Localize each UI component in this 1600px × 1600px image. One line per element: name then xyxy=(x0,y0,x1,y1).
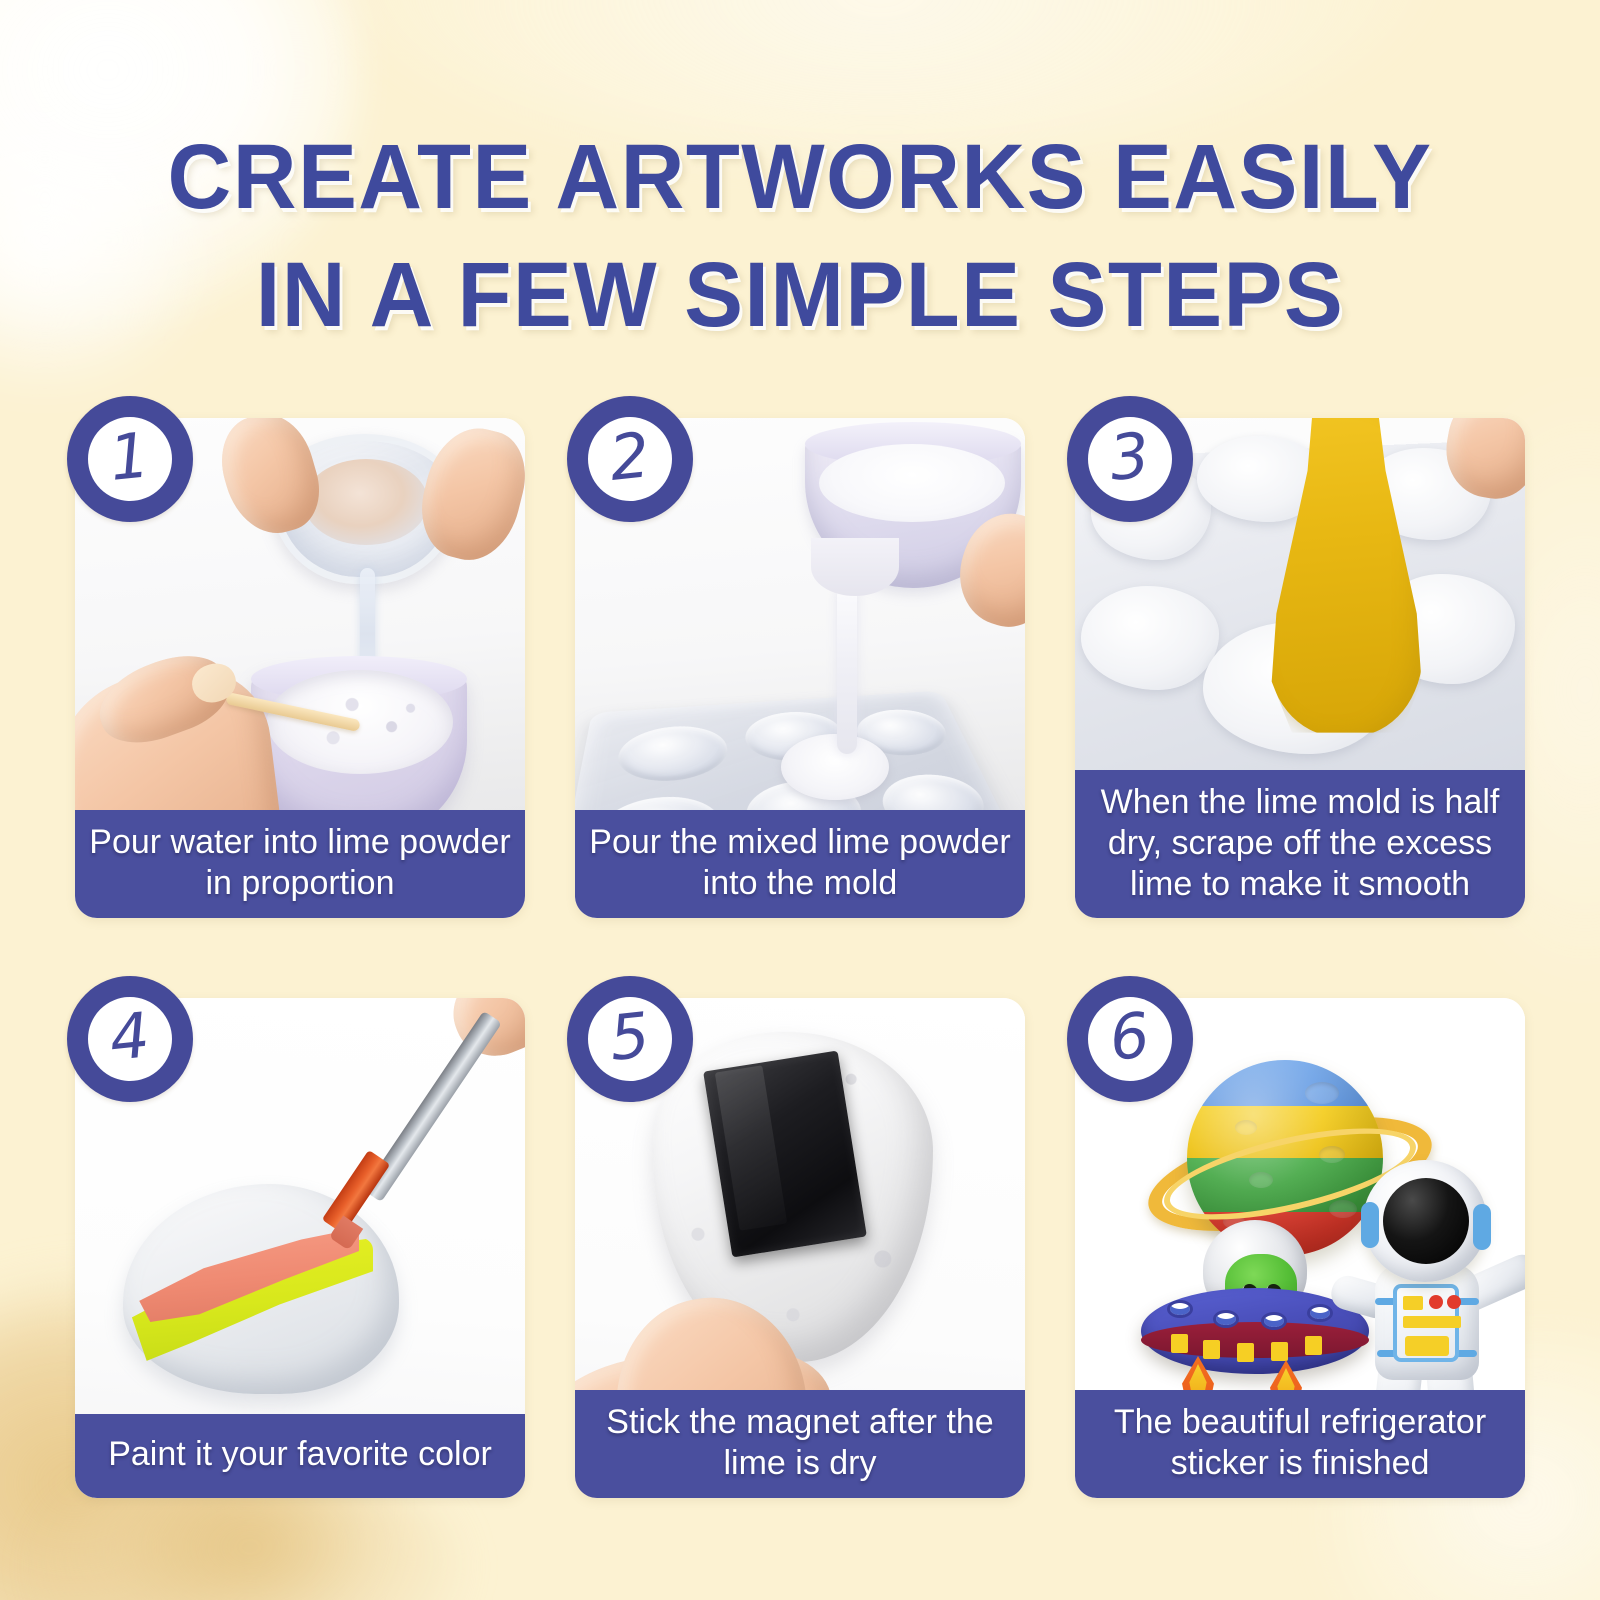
title-line-1: CREATE ARTWORKS EASILY xyxy=(32,118,1568,236)
infographic-poster: CREATE ARTWORKS EASILY IN A FEW SIMPLE S… xyxy=(0,0,1600,1600)
step-card-4[interactable]: Paint it your favorite color 4 xyxy=(75,998,525,1498)
step-caption-4: Paint it your favorite color xyxy=(75,1414,525,1498)
step-number-2: 2 xyxy=(607,424,653,490)
step-caption-3: When the lime mold is half dry, scrape o… xyxy=(1075,770,1525,918)
step-card-2[interactable]: Pour the mixed lime powder into the mold… xyxy=(575,418,1025,918)
step-caption-6: The beautiful refrigerator sticker is fi… xyxy=(1075,1390,1525,1498)
title-line-2: IN A FEW SIMPLE STEPS xyxy=(32,236,1568,354)
step-number-3: 3 xyxy=(1107,424,1153,490)
step-caption-2: Pour the mixed lime powder into the mold xyxy=(575,810,1025,918)
astronaut-visor xyxy=(1383,1178,1469,1264)
step-card-5[interactable]: Stick the magnet after the lime is dry 5 xyxy=(575,998,1025,1498)
step-number-5: 5 xyxy=(607,1004,653,1070)
step-badge-5: 5 xyxy=(567,976,693,1102)
astronaut-control-panel xyxy=(1393,1284,1459,1362)
step-number-6: 6 xyxy=(1107,1004,1153,1070)
step-card-3[interactable]: When the lime mold is half dry, scrape o… xyxy=(1075,418,1525,918)
step-badge-3: 3 xyxy=(1067,396,1193,522)
steps-grid: Pour water into lime powder in proportio… xyxy=(75,418,1525,1498)
step-number-4: 4 xyxy=(107,1004,153,1070)
step-badge-4: 4 xyxy=(67,976,193,1102)
lime-stream-icon xyxy=(837,586,857,754)
page-title: CREATE ARTWORKS EASILY IN A FEW SIMPLE S… xyxy=(0,118,1600,354)
step-badge-1: 1 xyxy=(67,396,193,522)
lime-slurry xyxy=(819,444,1005,522)
step-badge-6: 6 xyxy=(1067,976,1193,1102)
step-caption-1: Pour water into lime powder in proportio… xyxy=(75,810,525,918)
step-badge-2: 2 xyxy=(567,396,693,522)
step-caption-5: Stick the magnet after the lime is dry xyxy=(575,1390,1025,1498)
poured-lime-pool xyxy=(781,734,889,800)
step-number-1: 1 xyxy=(107,424,153,490)
step-card-6[interactable]: The beautiful refrigerator sticker is fi… xyxy=(1075,998,1525,1498)
step-card-1[interactable]: Pour water into lime powder in proportio… xyxy=(75,418,525,918)
